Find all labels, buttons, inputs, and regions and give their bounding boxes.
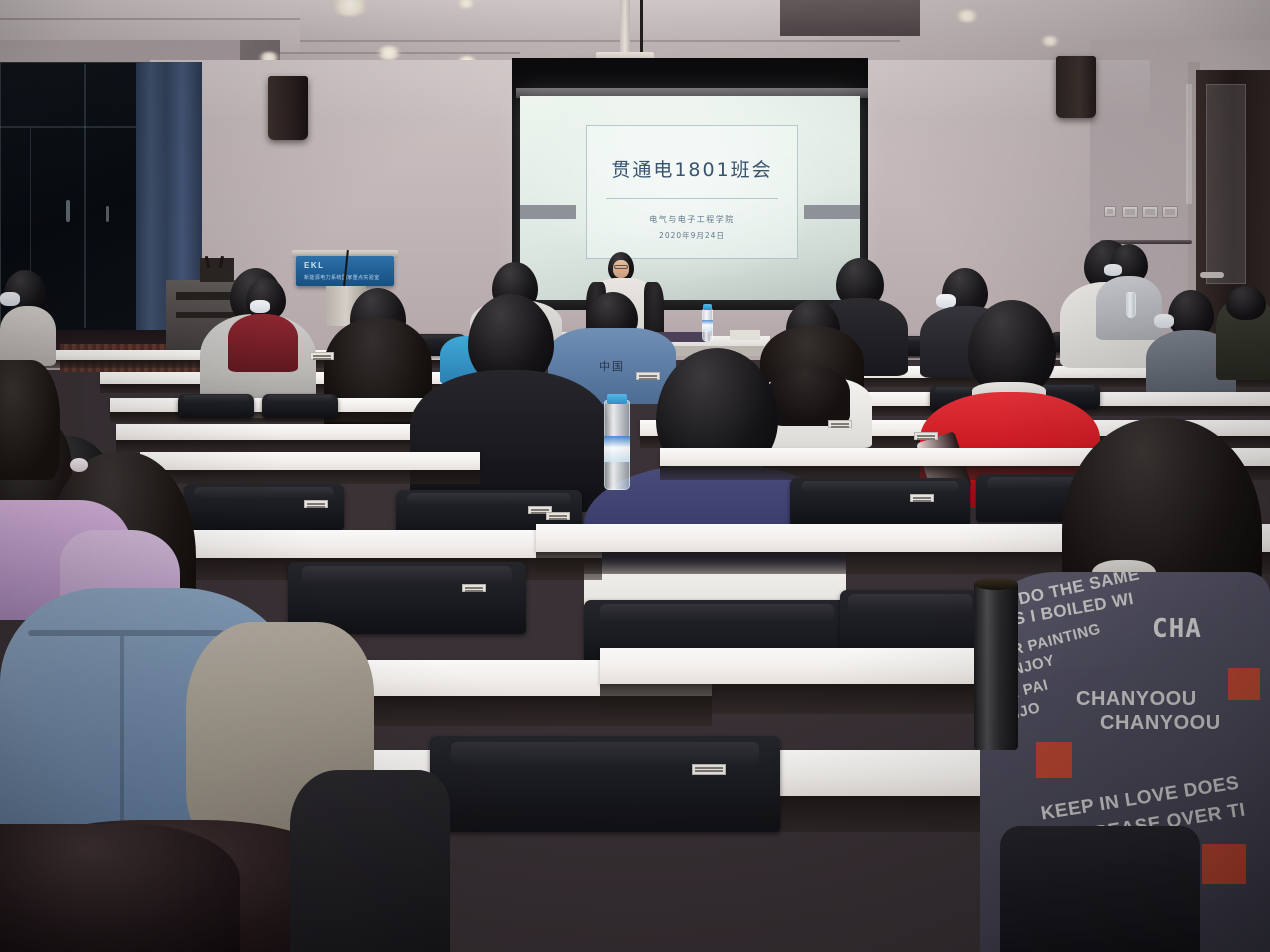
wall-switch-plate[interactable]: [1162, 206, 1178, 218]
tee-graphic-block: [1036, 742, 1072, 778]
bottle-label: [604, 436, 630, 462]
wall-switch-plate[interactable]: [1122, 206, 1138, 218]
slide-accent-right: [804, 205, 860, 219]
chair-asset-tag: [914, 432, 938, 440]
ceiling-seam: [300, 40, 900, 42]
window-handle[interactable]: [66, 200, 70, 222]
wall-outlet-plate[interactable]: [1104, 206, 1116, 217]
bottle-cap: [703, 304, 712, 310]
hair-tie: [70, 458, 88, 472]
window-latch[interactable]: [106, 206, 109, 222]
student-far-left: [0, 270, 56, 366]
slide-accent-left: [520, 205, 576, 219]
chair-asset-tag: [546, 512, 570, 520]
downlight: [955, 10, 979, 22]
door-frame-highlight: [1186, 84, 1192, 204]
ceiling-seam: [0, 18, 300, 20]
tee-graphic-block: [1202, 844, 1246, 884]
bottle-label: [702, 320, 713, 331]
chair[interactable]: [430, 736, 780, 832]
chair[interactable]: [178, 394, 254, 418]
face-mask: [1104, 264, 1122, 276]
student-masked-left: [228, 278, 298, 358]
slide-divider: [606, 198, 778, 199]
slide-title: 贯通电1801班会: [586, 155, 798, 182]
projector-mount: [620, 0, 630, 58]
classroom-photo: EPSON 贯通电1801班会 电气与电子工程学院 2020年9月24日 EKL…: [0, 0, 1270, 952]
chair-foreground: [290, 770, 450, 952]
student-head-foreground: [0, 824, 240, 952]
tee-graphic-block: [1228, 668, 1260, 700]
door-handle[interactable]: [1200, 272, 1224, 278]
student-torso: [0, 306, 56, 366]
door-glass-panel: [1206, 84, 1246, 284]
tee-brand-mark: CHA: [1152, 614, 1202, 644]
glasses-icon: [614, 265, 628, 269]
tee-text-line: CHANYOOU: [1076, 688, 1197, 711]
student-silhouette: [0, 360, 60, 480]
chair-asset-tag: [310, 352, 334, 360]
chair[interactable]: [262, 394, 338, 418]
wall-speaker: [268, 76, 308, 140]
face-mask: [250, 300, 270, 313]
window-mullion: [84, 64, 86, 328]
water-bottle[interactable]: [1126, 292, 1136, 318]
slide-subtitle-date: 2020年9月24日: [586, 230, 798, 241]
ceiling-recess: [780, 0, 920, 36]
presenter-face: [613, 260, 629, 278]
chair[interactable]: [790, 478, 970, 526]
face-mask: [1154, 314, 1174, 328]
tee-text-line: CHANYOOU: [1100, 712, 1221, 735]
face-mask: [0, 292, 20, 306]
black-thermos[interactable]: [974, 582, 1018, 750]
wall-switch-plate[interactable]: [1142, 206, 1158, 218]
chair-asset-tag: [828, 420, 852, 428]
thermos-lid: [974, 578, 1018, 590]
denim-yoke-seam: [28, 630, 224, 636]
student-head: [1226, 286, 1266, 320]
downlight: [376, 46, 402, 60]
downlight: [1040, 36, 1060, 46]
wall-speaker: [1056, 56, 1096, 118]
slide-subtitle-org: 电气与电子工程学院: [586, 214, 798, 225]
student-torso: [228, 314, 298, 372]
chair-asset-tag: [636, 372, 660, 380]
chair[interactable]: [1000, 826, 1200, 952]
bottle-cap: [607, 394, 627, 404]
ceiling-panel: [300, 0, 820, 40]
